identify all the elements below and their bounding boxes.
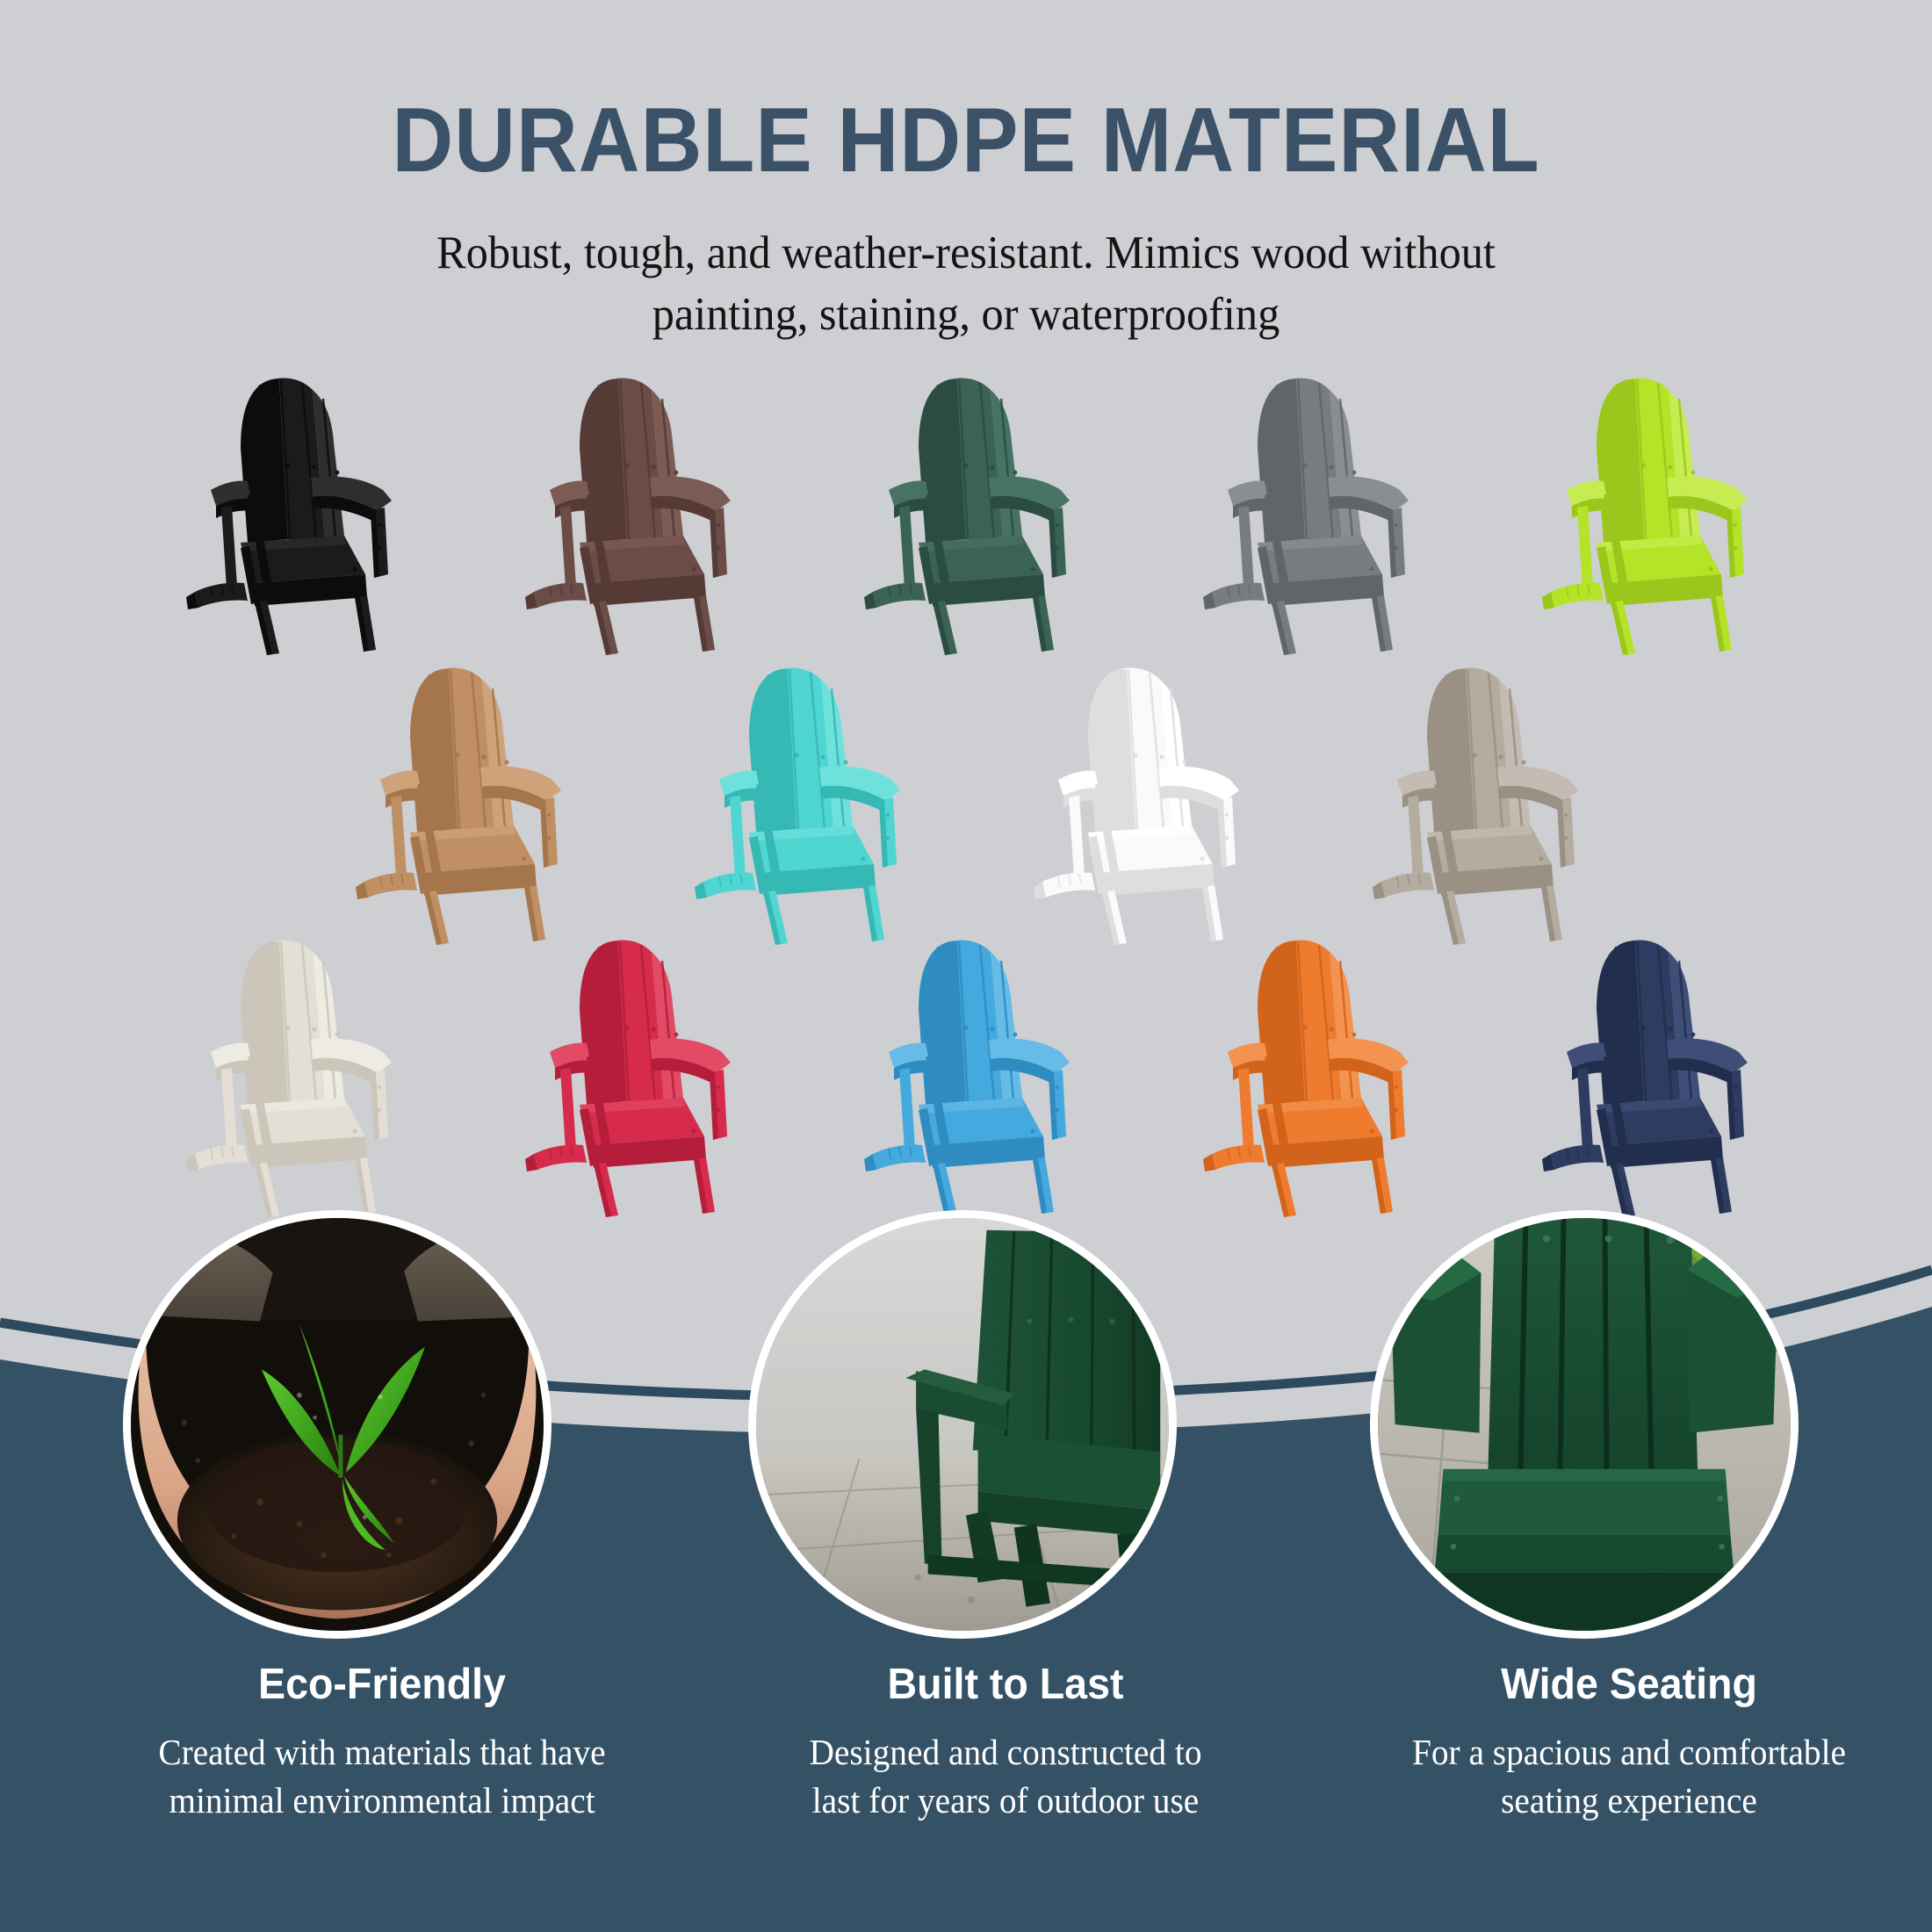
built-to-last-photo-circle xyxy=(748,1210,1177,1639)
chair-swatch-white[interactable] xyxy=(1004,657,1267,947)
feature-description: Designed and constructed to last for yea… xyxy=(719,1728,1293,1825)
page-title: DURABLE HDPE MATERIAL xyxy=(68,0,1864,186)
chair-swatch-orange[interactable] xyxy=(1173,929,1437,1219)
feature-heading: Wide Seating xyxy=(1345,1660,1913,1709)
feature-built-to-last: Built to Last Designed and constructed t… xyxy=(707,1660,1304,1825)
feature-heading: Built to Last xyxy=(722,1660,1289,1709)
chair-swatch-khaki[interactable] xyxy=(1343,657,1606,947)
chair-swatch-black[interactable] xyxy=(156,367,420,657)
green-chair-on-patio-photo xyxy=(756,1218,1169,1631)
chair-row-2 xyxy=(0,657,1932,947)
subtitle-line-2: painting, staining, or waterproofing xyxy=(48,285,1884,346)
chair-row-3 xyxy=(0,929,1932,1219)
feature-description: Created with materials that have minimal… xyxy=(96,1728,669,1825)
header: DURABLE HDPE MATERIAL Robust, tough, and… xyxy=(0,0,1932,369)
hands-holding-seedling-photo xyxy=(131,1218,544,1631)
chair-swatch-turquoise[interactable] xyxy=(665,657,928,947)
eco-friendly-photo-circle xyxy=(123,1210,551,1639)
feature-desc-line-2: seating experience xyxy=(1501,1780,1757,1820)
feature-description: For a spacious and comfortable seating e… xyxy=(1343,1728,1916,1825)
feature-desc-line-1: Designed and constructed to xyxy=(809,1732,1201,1772)
wide-seating-photo-circle xyxy=(1370,1210,1799,1639)
chair-row-1 xyxy=(0,367,1932,657)
chair-color-grid xyxy=(0,367,1932,1254)
chair-swatch-dark-green[interactable] xyxy=(834,367,1098,657)
chair-swatch-ivory[interactable] xyxy=(156,929,420,1219)
chair-swatch-gray[interactable] xyxy=(1173,367,1437,657)
green-chair-seat-closeup-photo xyxy=(1378,1218,1791,1631)
feature-heading: Eco-Friendly xyxy=(98,1660,666,1709)
chair-swatch-navy[interactable] xyxy=(1512,929,1776,1219)
feature-wide-seating: Wide Seating For a spacious and comforta… xyxy=(1330,1660,1928,1825)
feature-eco-friendly: Eco-Friendly Created with materials that… xyxy=(83,1660,681,1825)
chair-swatch-light-blue[interactable] xyxy=(834,929,1098,1219)
feature-desc-line-2: last for years of outdoor use xyxy=(812,1780,1200,1820)
feature-desc-line-1: For a spacious and comfortable xyxy=(1412,1732,1846,1772)
chair-swatch-brown[interactable] xyxy=(495,367,759,657)
subtitle-line-1: Robust, tough, and weather-resistant. Mi… xyxy=(48,223,1884,285)
feature-desc-line-2: minimal environmental impact xyxy=(169,1780,595,1820)
feature-desc-line-1: Created with materials that have xyxy=(158,1732,605,1772)
chair-swatch-teak[interactable] xyxy=(326,657,589,947)
chair-swatch-red[interactable] xyxy=(495,929,759,1219)
page-subtitle: Robust, tough, and weather-resistant. Mi… xyxy=(48,223,1884,346)
chair-swatch-lime-green[interactable] xyxy=(1512,367,1776,657)
